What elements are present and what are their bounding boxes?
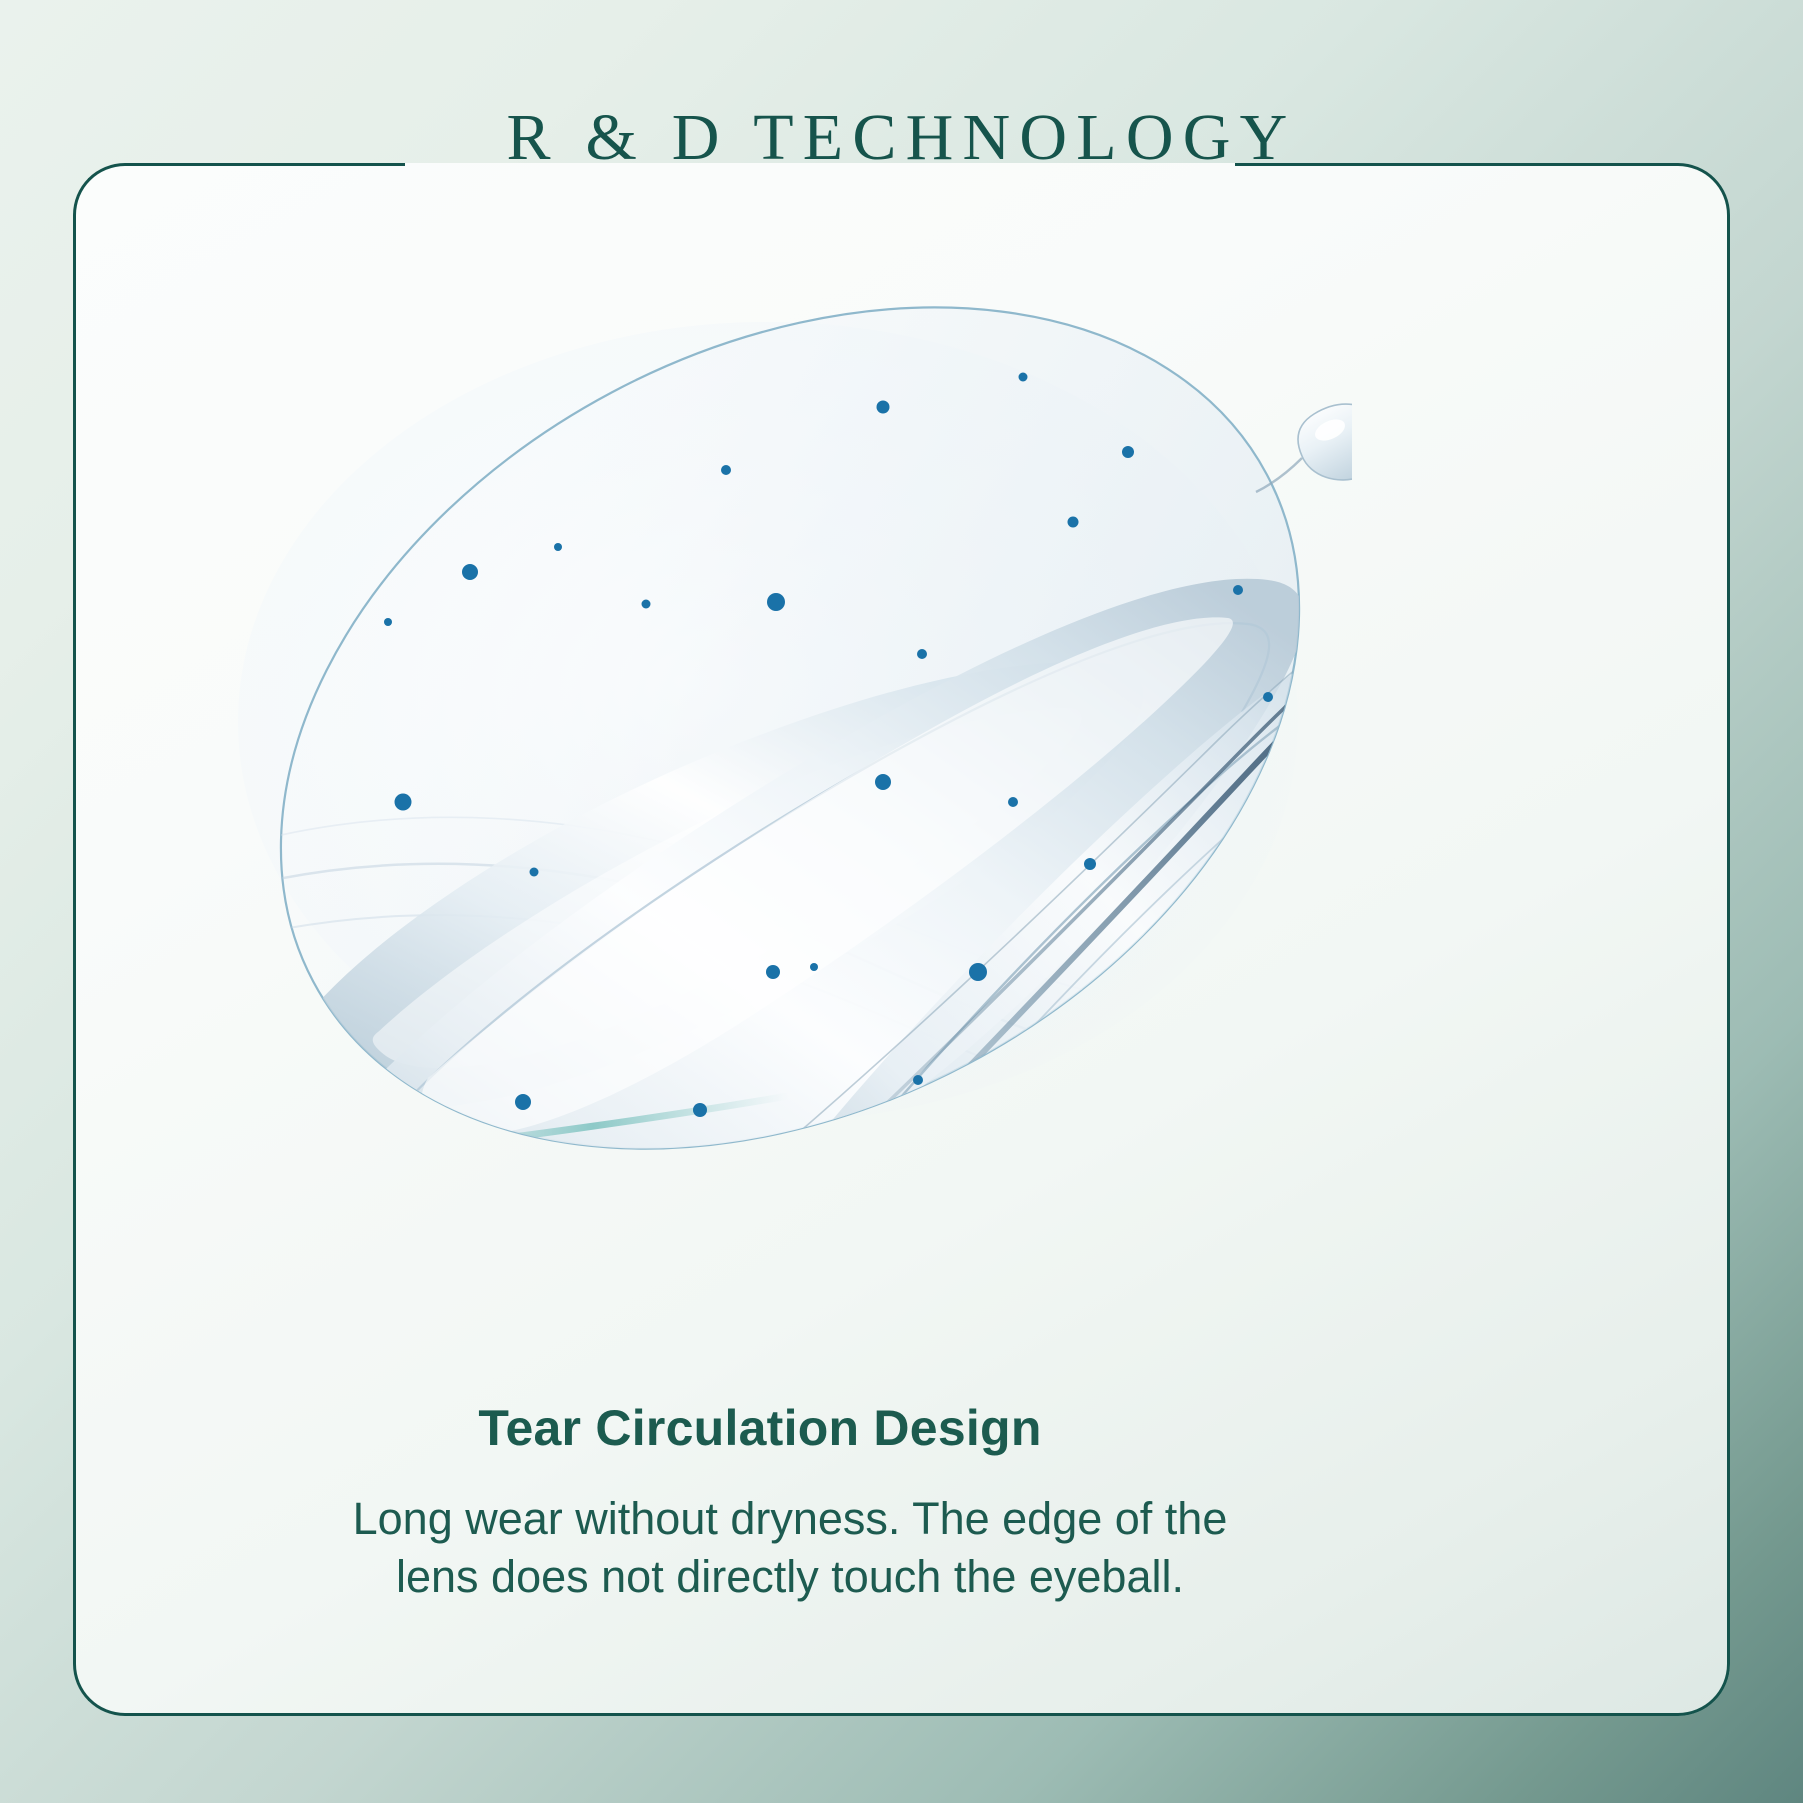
- tear-dot: [969, 963, 987, 981]
- tear-dot: [1019, 373, 1028, 382]
- lens-illustration-svg: [228, 272, 1352, 1184]
- lens-illustration: [228, 272, 1352, 1184]
- tear-dot: [530, 868, 539, 877]
- tear-dot: [767, 593, 785, 611]
- tear-dot: [766, 965, 780, 979]
- tear-dot: [1309, 783, 1318, 792]
- tear-dot: [913, 1075, 923, 1085]
- caption-body-line-1: Long wear without dryness. The edge of t…: [0, 1490, 1580, 1548]
- tear-dot: [462, 564, 478, 580]
- tear-dot: [721, 465, 731, 475]
- page-title: R & D TECHNOLOGY: [0, 100, 1803, 176]
- tear-dot: [917, 649, 927, 659]
- droplet-body: [1298, 404, 1352, 480]
- water-droplet: [1256, 404, 1352, 492]
- tear-dot: [810, 963, 818, 971]
- caption-body-line-2: lens does not directly touch the eyeball…: [0, 1548, 1580, 1606]
- tear-dot: [1263, 692, 1273, 702]
- tear-dot: [693, 1103, 707, 1117]
- tear-dot: [395, 794, 412, 811]
- tear-dot: [515, 1094, 531, 1110]
- caption-headline: Tear Circulation Design: [0, 1399, 1520, 1457]
- tear-dot: [875, 774, 891, 790]
- tear-dot: [1122, 446, 1134, 458]
- tear-dot: [1084, 858, 1096, 870]
- caption-body: Long wear without dryness. The edge of t…: [0, 1490, 1580, 1605]
- tear-dot: [877, 401, 890, 414]
- tear-dot: [1233, 585, 1243, 595]
- tear-dot: [1068, 517, 1079, 528]
- tear-dot: [384, 618, 392, 626]
- tear-dot: [1008, 797, 1018, 807]
- poster-root: R & D TECHNOLOGY: [0, 0, 1803, 1803]
- tear-dot: [554, 543, 562, 551]
- tear-dot: [642, 600, 651, 609]
